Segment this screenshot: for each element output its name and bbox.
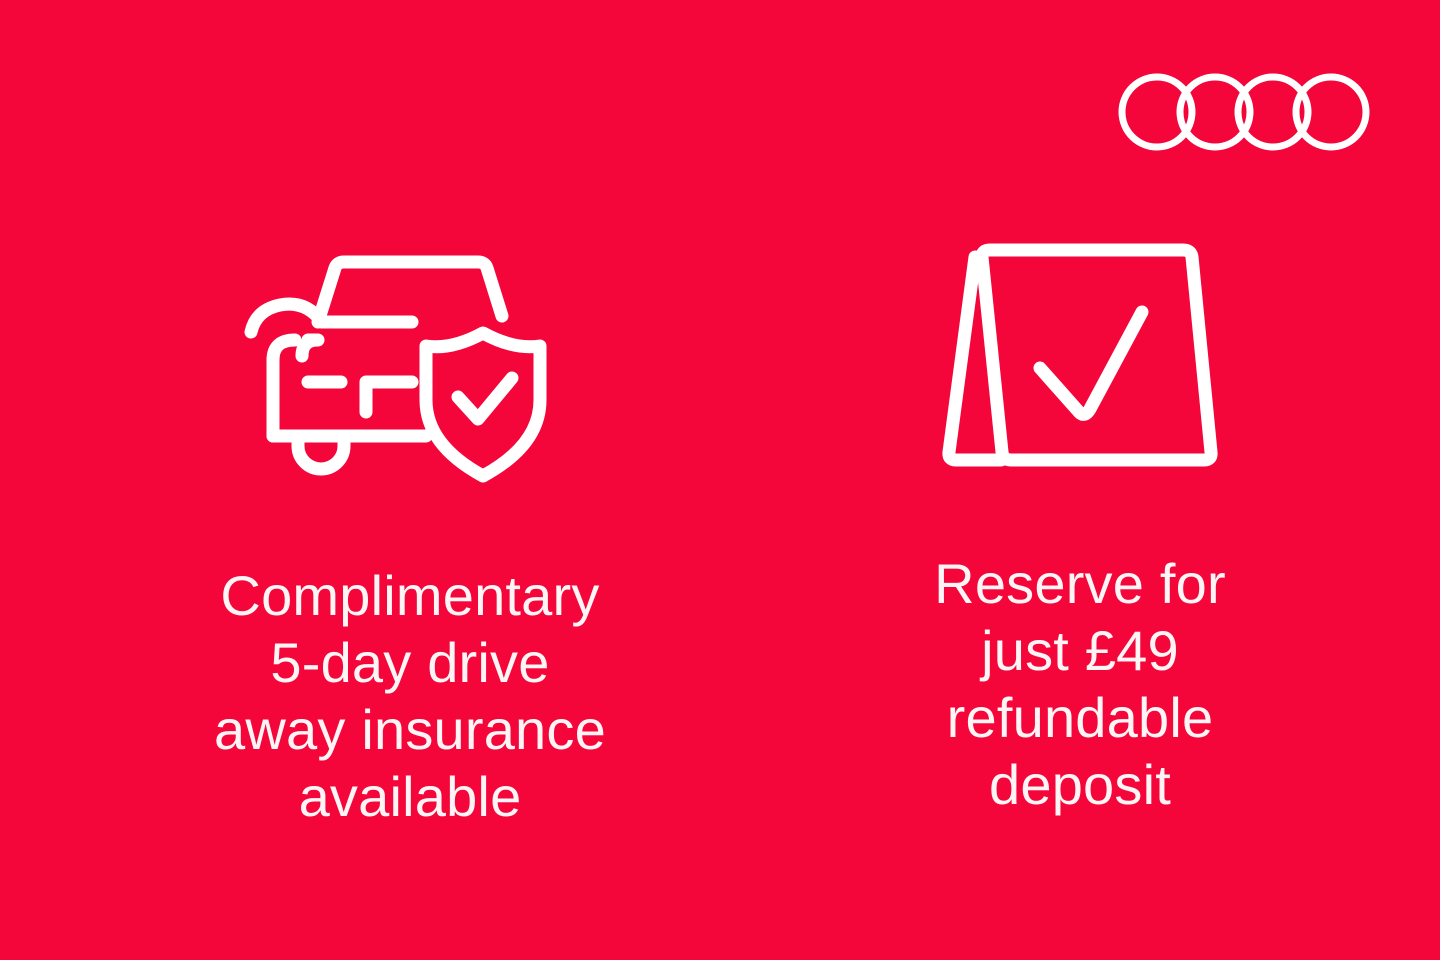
feature-insurance: Complimentary 5-day drive away insurance… (110, 240, 710, 830)
car-shield-icon (240, 240, 580, 490)
feature-deposit-caption: Reserve for just £49 refundable deposit (790, 472, 1370, 818)
feature-insurance-caption: Complimentary 5-day drive away insurance… (110, 490, 710, 830)
feature-deposit: Reserve for just £49 refundable deposit (790, 240, 1370, 818)
audi-four-rings-icon (1118, 58, 1370, 166)
reserved-tent-card-check-icon (935, 240, 1225, 472)
promo-banner: Complimentary 5-day drive away insurance… (0, 0, 1440, 960)
